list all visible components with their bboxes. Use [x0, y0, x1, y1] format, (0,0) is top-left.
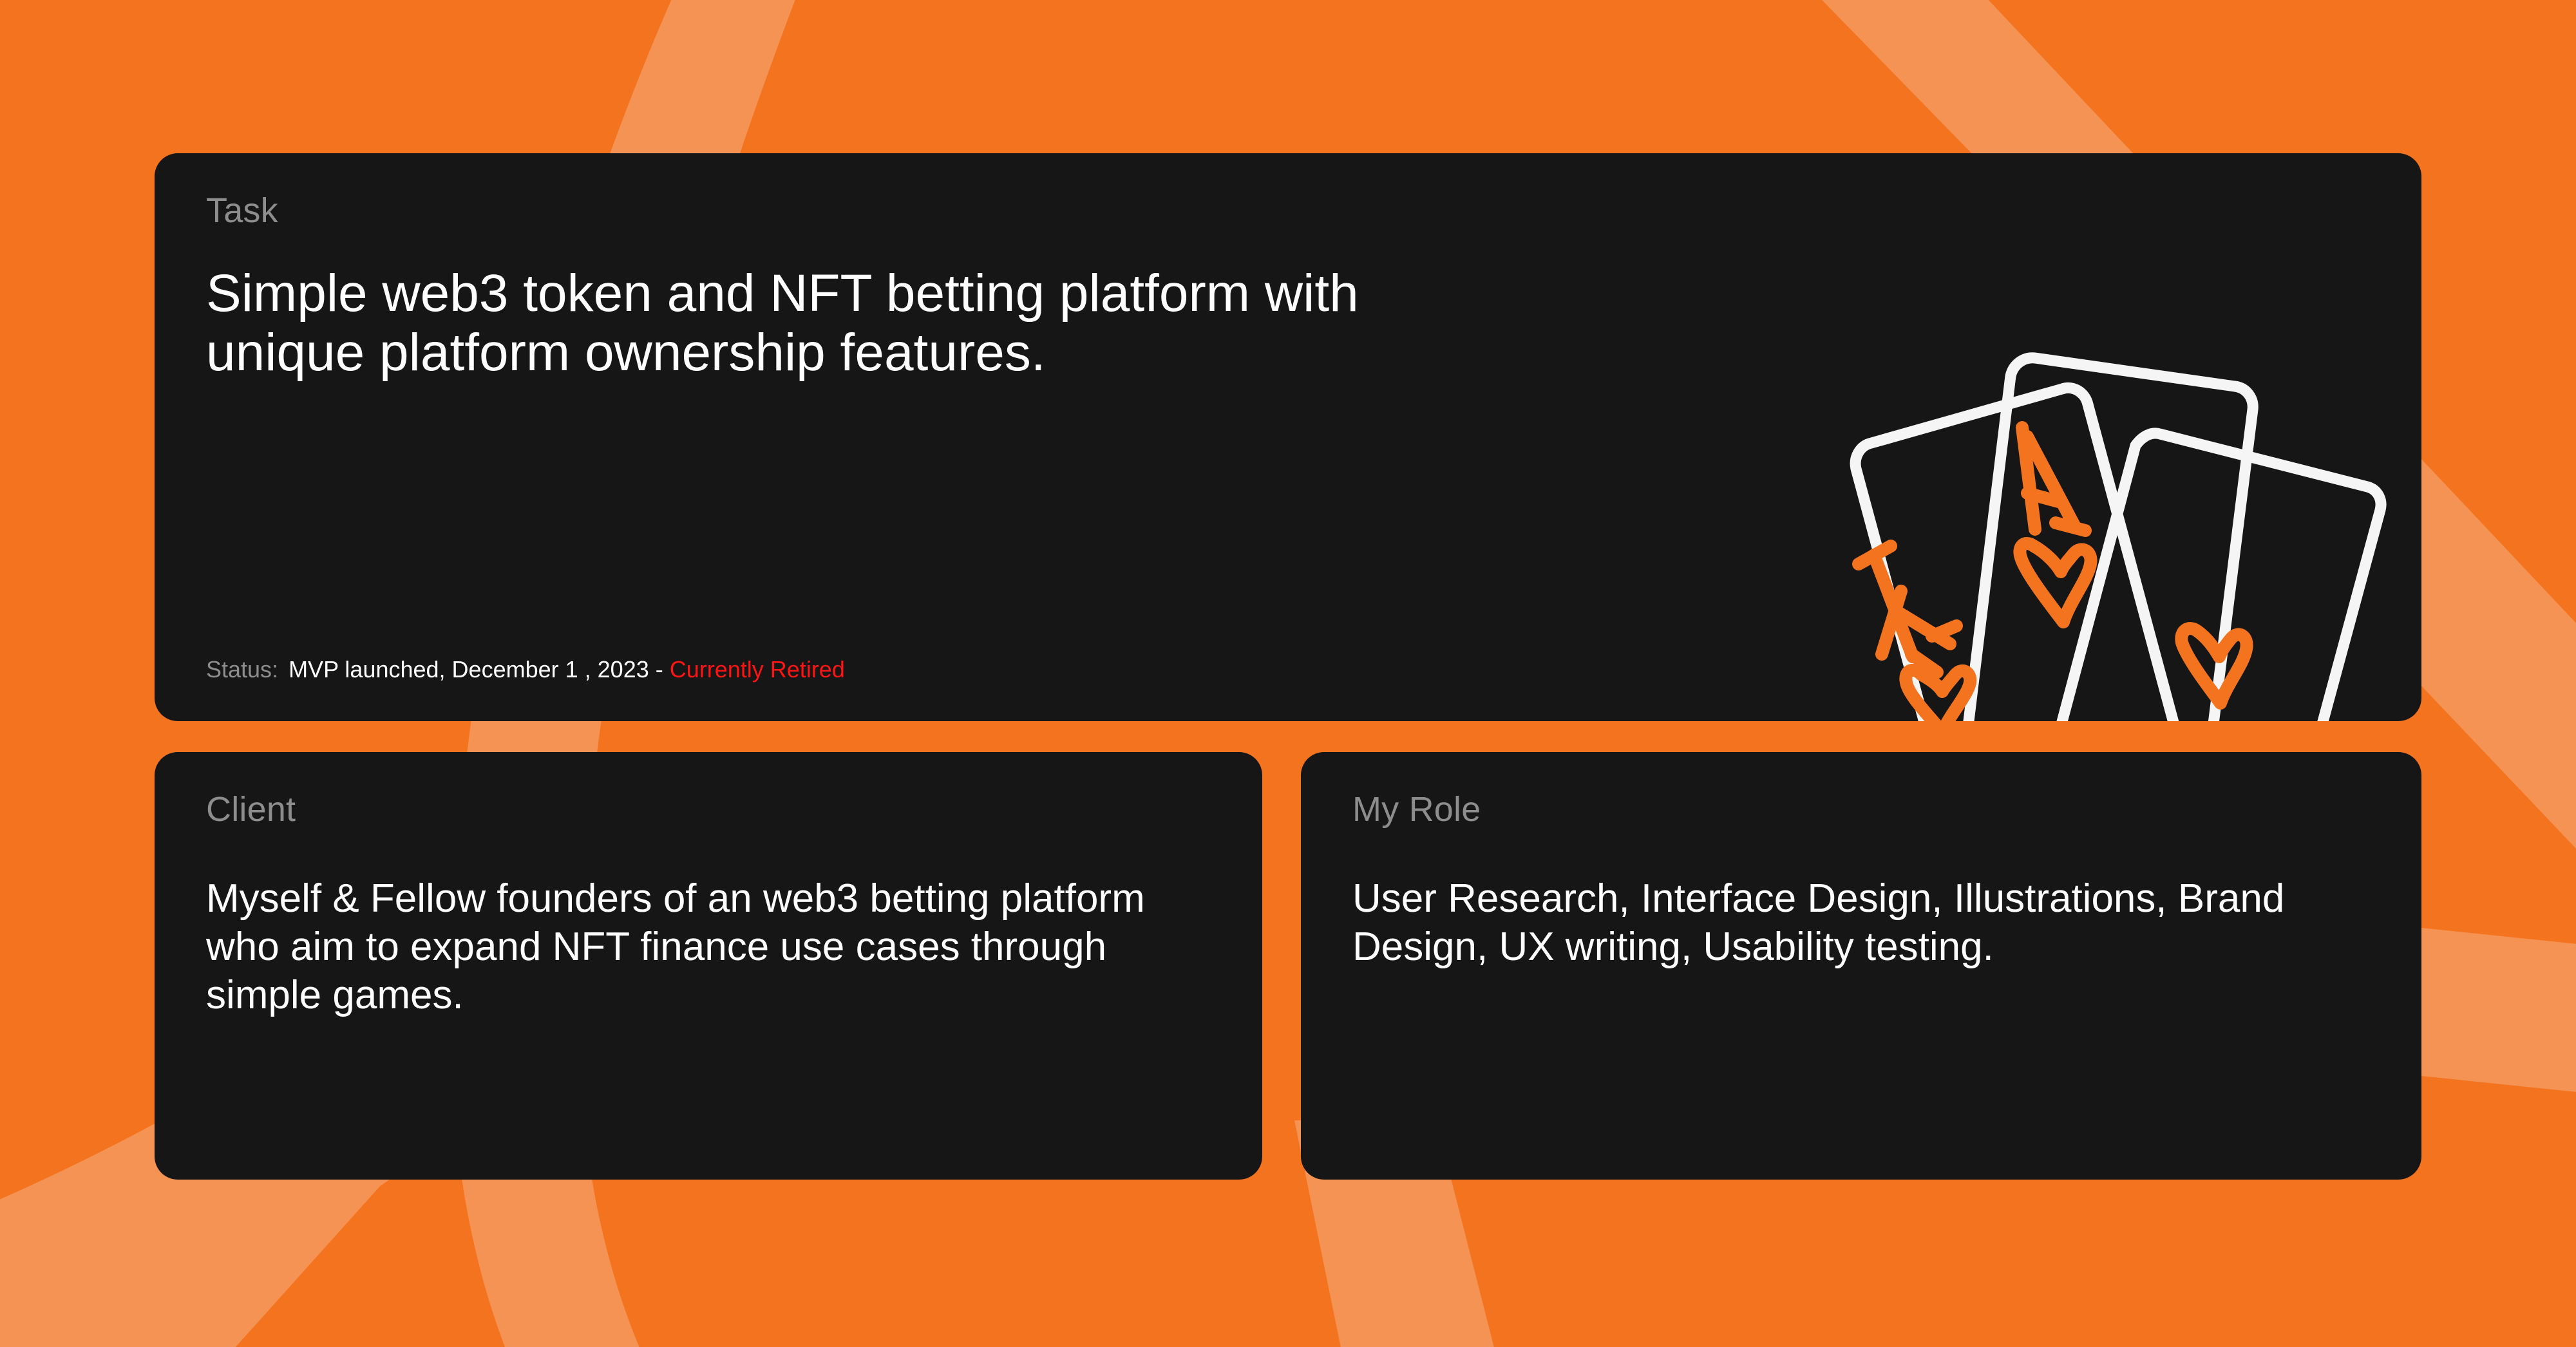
- client-panel: Client Myself & Fellow founders of an we…: [155, 752, 1262, 1180]
- role-body-text: User Research, Interface Design, Illustr…: [1352, 874, 2357, 971]
- status-badge: Currently Retired: [670, 656, 845, 683]
- client-eyebrow-label: Client: [206, 789, 296, 829]
- task-eyebrow-label: Task: [206, 191, 278, 231]
- status-value: MVP launched, December 1 , 2023 -: [289, 656, 663, 683]
- client-body-text: Myself & Fellow founders of an web3 bett…: [206, 874, 1211, 1019]
- playing-cards-illustration: [1784, 224, 2421, 721]
- status-label: Status:: [206, 656, 278, 683]
- role-panel: My Role User Research, Interface Design,…: [1301, 752, 2421, 1180]
- task-panel: Task Simple web3 token and NFT betting p…: [155, 153, 2421, 721]
- status-row: Status:MVP launched, December 1 , 2023 -…: [206, 658, 845, 681]
- role-eyebrow-label: My Role: [1352, 789, 1481, 829]
- task-headline: Simple web3 token and NFT betting platfo…: [206, 264, 1430, 382]
- panel-grid: Task Simple web3 token and NFT betting p…: [155, 153, 2421, 1180]
- page-canvas: Task Simple web3 token and NFT betting p…: [0, 0, 2576, 1347]
